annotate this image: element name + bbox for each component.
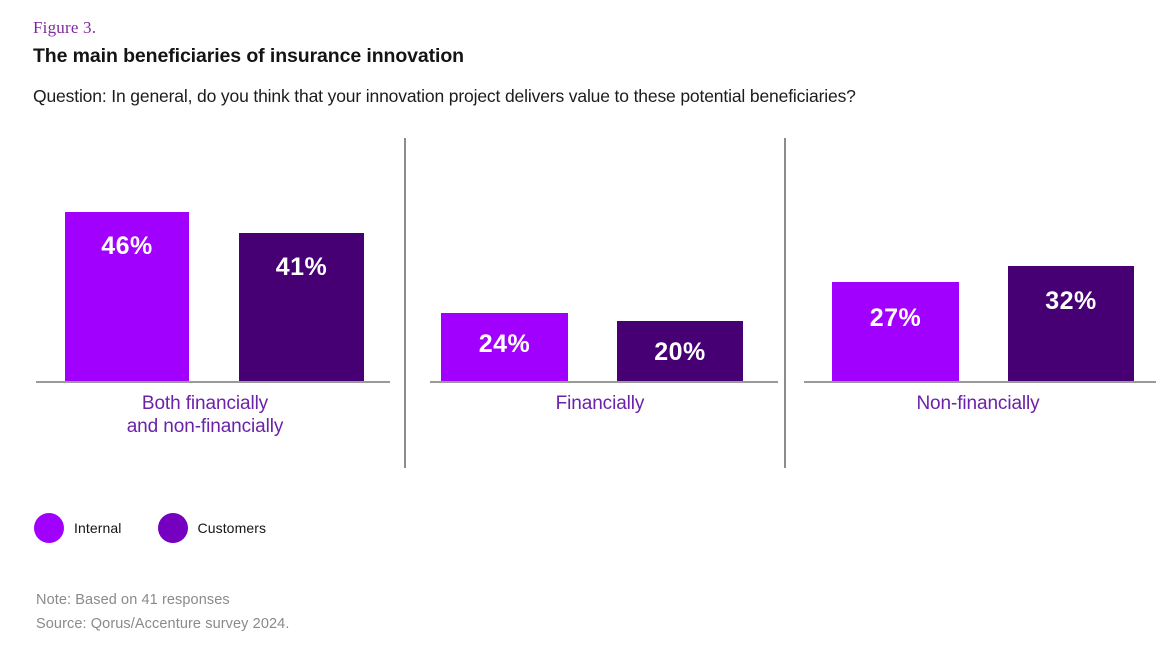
bar-value-label: 24% <box>441 330 568 359</box>
bar-internal[interactable]: 27% <box>832 282 959 381</box>
group-baseline <box>804 381 1156 383</box>
legend-item-customers[interactable]: Customers <box>158 513 267 543</box>
circle-marker-icon <box>34 513 64 543</box>
category-label: Both financially and non-financially <box>20 392 390 438</box>
bar-value-label: 32% <box>1008 287 1134 316</box>
bar-value-label: 27% <box>832 304 959 333</box>
legend-label: Customers <box>198 520 267 536</box>
bar-group-financially: 24% 20% Financially <box>420 140 780 470</box>
bar-chart-plot-area: 46% 41% Both financially and non-financi… <box>0 0 1162 647</box>
legend-item-internal[interactable]: Internal <box>34 513 122 543</box>
group-baseline <box>430 381 778 383</box>
category-label-line-1: Non-financially <box>798 392 1158 415</box>
group-divider-1 <box>404 138 406 468</box>
circle-marker-icon <box>158 513 188 543</box>
category-label-line-1: Financially <box>420 392 780 415</box>
category-label: Non-financially <box>798 392 1158 415</box>
bar-value-label: 20% <box>617 338 743 367</box>
legend-label: Internal <box>74 520 122 536</box>
category-label: Financially <box>420 392 780 415</box>
category-label-line-1: Both financially <box>20 392 390 415</box>
note-text: Note: Based on 41 responses <box>36 588 289 612</box>
bar-customers[interactable]: 32% <box>1008 266 1134 381</box>
bar-group-non-financially: 27% 32% Non-financially <box>798 140 1158 470</box>
bar-customers[interactable]: 20% <box>617 321 743 381</box>
bar-customers[interactable]: 41% <box>239 233 364 381</box>
chart-footnotes: Note: Based on 41 responses Source: Qoru… <box>36 588 289 636</box>
chart-legend: Internal Customers <box>34 513 302 543</box>
group-baseline <box>36 381 390 383</box>
source-text: Source: Qorus/Accenture survey 2024. <box>36 612 289 636</box>
bar-value-label: 41% <box>239 253 364 282</box>
bar-group-both-financially-and-non-financially: 46% 41% Both financially and non-financi… <box>20 140 390 470</box>
bar-value-label: 46% <box>65 232 189 261</box>
category-label-line-2: and non-financially <box>20 415 390 438</box>
bar-internal[interactable]: 46% <box>65 212 189 381</box>
group-divider-2 <box>784 138 786 468</box>
bar-internal[interactable]: 24% <box>441 313 568 381</box>
